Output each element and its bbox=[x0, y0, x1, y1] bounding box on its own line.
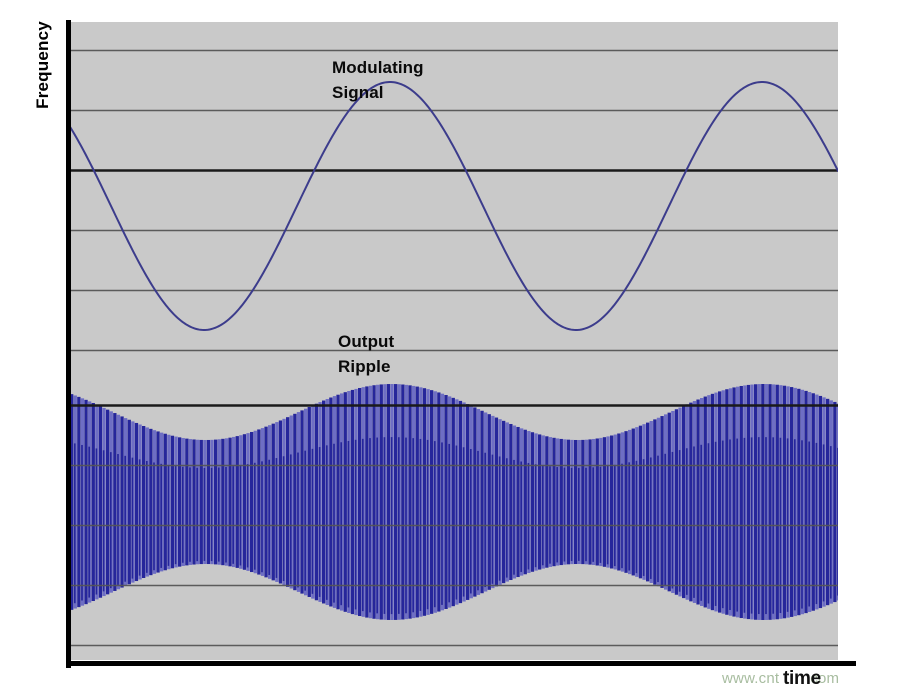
modulating-signal-label: Modulating Signal bbox=[332, 56, 424, 105]
plot-canvas bbox=[70, 22, 838, 660]
output-ripple-waveform bbox=[70, 384, 838, 620]
x-axis-line bbox=[66, 661, 856, 666]
chart-figure: Frequency time Modulating Signal Output … bbox=[0, 0, 900, 700]
output-ripple-label: Output Ripple bbox=[338, 330, 394, 379]
modulating-signal-curve bbox=[70, 82, 838, 330]
plot-area bbox=[70, 22, 838, 660]
y-axis-line bbox=[66, 20, 71, 668]
watermark: www.cntcom bbox=[722, 670, 839, 687]
y-axis-label: Frequency bbox=[33, 0, 53, 130]
watermark-prefix: www.cnt bbox=[722, 670, 779, 687]
x-axis-label: time bbox=[783, 668, 821, 690]
